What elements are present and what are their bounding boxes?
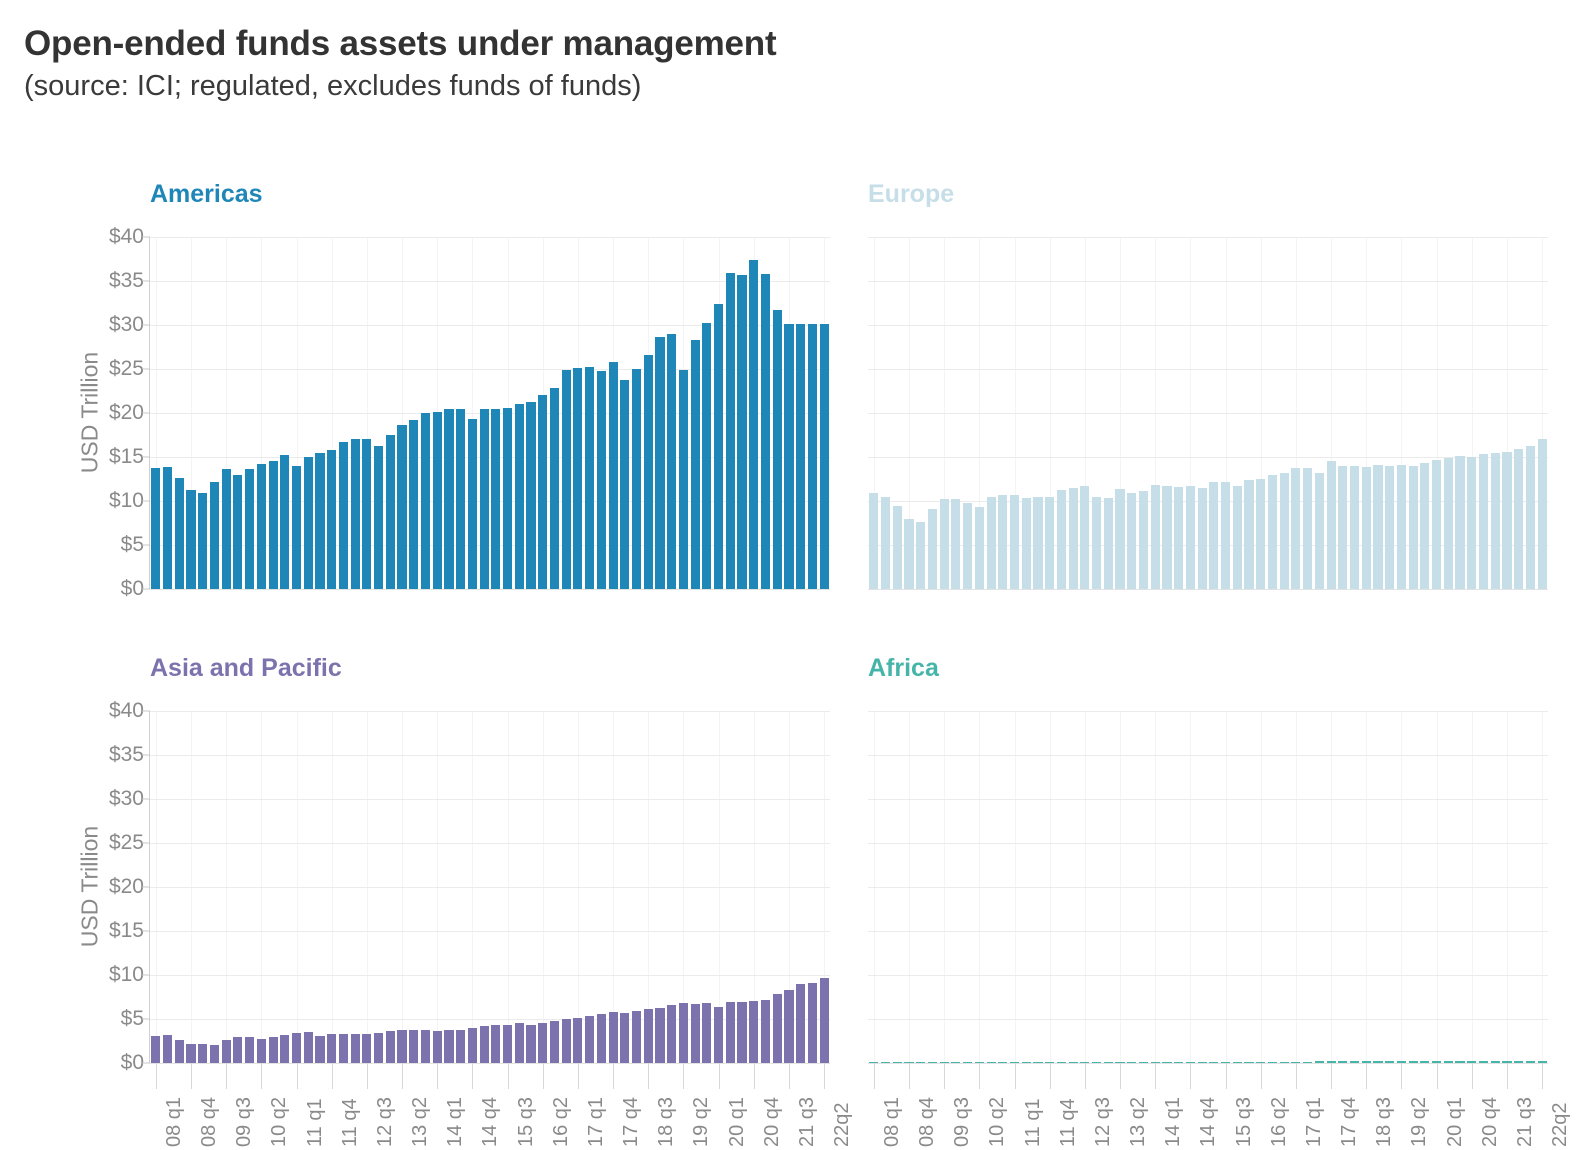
bar[interactable]: [1022, 498, 1031, 589]
x-tick-mark: [437, 1063, 438, 1089]
x-tick-mark: [191, 1063, 192, 1089]
bar[interactable]: [409, 1030, 418, 1063]
x-tick-mark: [1155, 1063, 1156, 1089]
bar[interactable]: [491, 409, 500, 589]
bar[interactable]: [1350, 466, 1359, 589]
bar[interactable]: [761, 1000, 770, 1063]
bar[interactable]: [998, 495, 1007, 589]
bar[interactable]: [987, 497, 996, 589]
bar[interactable]: [1338, 466, 1347, 589]
bar[interactable]: [881, 497, 890, 589]
bar[interactable]: [1092, 497, 1101, 589]
bar[interactable]: [963, 503, 972, 589]
x-tick-label: 13 q2: [409, 1097, 432, 1147]
bar[interactable]: [620, 1013, 629, 1063]
x-tick-label: 15 q3: [515, 1097, 538, 1147]
bar[interactable]: [951, 499, 960, 589]
bar[interactable]: [916, 522, 925, 589]
bar[interactable]: [667, 1005, 676, 1063]
bar[interactable]: [245, 469, 254, 589]
bar[interactable]: [351, 439, 360, 589]
bar[interactable]: [679, 370, 688, 589]
x-tick-label: 14 q4: [479, 1097, 502, 1147]
bar[interactable]: [315, 1036, 324, 1063]
bar[interactable]: [1467, 457, 1476, 589]
x-tick-mark: [472, 1063, 473, 1089]
x-tick-mark: [1261, 1063, 1262, 1089]
bar[interactable]: [151, 1036, 160, 1063]
x-tick-mark: [754, 1063, 755, 1089]
x-tick-mark: [1190, 1063, 1191, 1089]
bar[interactable]: [1080, 486, 1089, 589]
bar[interactable]: [1502, 452, 1511, 589]
bar[interactable]: [233, 475, 242, 589]
bar[interactable]: [198, 1044, 207, 1063]
x-axis-asia_pacific: 08 q108 q409 q310 q211 q111 q412 q313 q2…: [150, 1063, 830, 1150]
bar[interactable]: [893, 506, 902, 589]
x-tick-mark: [613, 1063, 614, 1089]
bar[interactable]: [609, 362, 618, 589]
x-tick-mark: [1050, 1063, 1051, 1089]
y-tick-label: $0: [121, 577, 144, 601]
y-tick-mark: [142, 931, 150, 932]
x-tick-mark: [367, 1063, 368, 1089]
y-axis-label: USD Trillion: [77, 787, 104, 987]
plot-area-europe: [868, 237, 1548, 589]
x-tick-label: 16 q2: [550, 1097, 573, 1147]
y-tick-label: $40: [109, 225, 144, 249]
bar[interactable]: [480, 409, 489, 589]
y-tick-label: $40: [109, 699, 144, 723]
bar[interactable]: [796, 324, 805, 589]
bar[interactable]: [644, 1009, 653, 1063]
y-tick-label: $30: [109, 313, 144, 337]
bar[interactable]: [1280, 473, 1289, 589]
bar[interactable]: [597, 1014, 606, 1063]
x-tick-mark: [226, 1063, 227, 1089]
bar-series-europe: [868, 237, 1548, 589]
x-tick-mark: [578, 1063, 579, 1089]
bar[interactable]: [784, 990, 793, 1063]
facet-title-asia_pacific: Asia and Pacific: [150, 654, 342, 683]
bar[interactable]: [386, 435, 395, 589]
bar[interactable]: [444, 409, 453, 589]
x-tick-label: 11 q1: [304, 1098, 327, 1147]
bar[interactable]: [585, 1016, 594, 1063]
bar[interactable]: [597, 371, 606, 589]
x-tick-label: 17 q4: [1338, 1097, 1361, 1147]
y-gridline: [868, 589, 1548, 590]
y-tick-label: $5: [121, 1007, 144, 1031]
bar[interactable]: [1057, 490, 1066, 589]
x-tick-label: 22q2: [1549, 1103, 1572, 1148]
bar[interactable]: [632, 369, 641, 589]
bar[interactable]: [538, 1023, 547, 1063]
facet-title-europe: Europe: [868, 180, 954, 209]
y-tick-label: $20: [109, 401, 144, 425]
bar[interactable]: [1069, 488, 1078, 589]
bar[interactable]: [409, 420, 418, 589]
plot-area-americas: $0$5$10$15$20$25$30$35$40USD Trillion: [150, 237, 830, 589]
y-tick-label: $10: [109, 489, 144, 513]
bar[interactable]: [679, 1003, 688, 1063]
bar[interactable]: [761, 274, 770, 589]
x-tick-mark: [1542, 1063, 1543, 1089]
bar[interactable]: [1010, 495, 1019, 589]
bar[interactable]: [737, 275, 746, 589]
x-tick-mark: [1437, 1063, 1438, 1089]
bar[interactable]: [362, 439, 371, 589]
plot-area-africa: [868, 711, 1548, 1063]
bar[interactable]: [433, 412, 442, 589]
bar[interactable]: [397, 1030, 406, 1063]
bar[interactable]: [620, 380, 629, 589]
bar[interactable]: [1233, 486, 1242, 589]
x-tick-mark: [719, 1063, 720, 1089]
bar[interactable]: [421, 1030, 430, 1063]
bar[interactable]: [304, 1032, 313, 1063]
bar[interactable]: [726, 1002, 735, 1063]
x-tick-mark: [543, 1063, 544, 1089]
bar[interactable]: [940, 499, 949, 589]
y-tick-mark: [142, 887, 150, 888]
bar[interactable]: [1151, 485, 1160, 589]
y-tick-label: $25: [109, 357, 144, 381]
y-gridline: [150, 589, 830, 590]
bar[interactable]: [456, 1030, 465, 1063]
bar[interactable]: [327, 1034, 336, 1063]
bar[interactable]: [1362, 467, 1371, 589]
bar[interactable]: [808, 324, 817, 589]
x-tick-label: 08 q1: [163, 1097, 186, 1147]
bar[interactable]: [526, 1025, 535, 1063]
bar[interactable]: [1420, 463, 1429, 589]
bar[interactable]: [1139, 491, 1148, 589]
bar[interactable]: [1327, 461, 1336, 589]
x-tick-mark: [1331, 1063, 1332, 1089]
bar[interactable]: [562, 370, 571, 589]
bar[interactable]: [702, 323, 711, 589]
x-tick-label: 12 q3: [1092, 1097, 1115, 1147]
bar[interactable]: [433, 1031, 442, 1063]
x-tick-mark: [1015, 1063, 1016, 1089]
x-tick-label: 17 q4: [620, 1097, 643, 1147]
bar[interactable]: [515, 1023, 524, 1063]
x-tick-label: 21 q3: [1514, 1097, 1537, 1147]
bar[interactable]: [820, 978, 829, 1063]
y-tick-mark: [142, 237, 150, 238]
bar[interactable]: [632, 1011, 641, 1063]
bar[interactable]: [1186, 486, 1195, 589]
bar[interactable]: [573, 1018, 582, 1063]
y-tick-label: $20: [109, 875, 144, 899]
bar[interactable]: [1127, 493, 1136, 589]
bar[interactable]: [315, 453, 324, 589]
bar[interactable]: [820, 324, 829, 589]
x-tick-label: 14 q1: [1162, 1097, 1185, 1147]
x-tick-label: 20 q4: [761, 1097, 784, 1147]
bar[interactable]: [210, 482, 219, 589]
bar[interactable]: [163, 1035, 172, 1063]
x-tick-label: 18 q3: [655, 1097, 678, 1147]
x-tick-label: 13 q2: [1127, 1097, 1150, 1147]
y-tick-mark: [142, 369, 150, 370]
facet-title-africa: Africa: [868, 654, 939, 683]
bar[interactable]: [1385, 466, 1394, 589]
bar[interactable]: [1033, 497, 1042, 589]
x-tick-mark: [944, 1063, 945, 1089]
bar[interactable]: [975, 507, 984, 589]
bar[interactable]: [468, 1028, 477, 1063]
x-tick-mark: [909, 1063, 910, 1089]
bar[interactable]: [737, 1002, 746, 1063]
y-axis-label: USD Trillion: [77, 313, 104, 513]
bar[interactable]: [749, 260, 758, 589]
bar[interactable]: [1409, 466, 1418, 589]
bar[interactable]: [1526, 446, 1535, 589]
bar[interactable]: [1045, 497, 1054, 589]
bar[interactable]: [550, 388, 559, 589]
x-tick-label: 20 q1: [1444, 1097, 1467, 1147]
bar[interactable]: [327, 450, 336, 589]
bar[interactable]: [304, 457, 313, 589]
x-tick-mark: [1085, 1063, 1086, 1089]
x-tick-mark: [1226, 1063, 1227, 1089]
bar[interactable]: [526, 402, 535, 589]
bar[interactable]: [667, 334, 676, 589]
x-tick-mark: [402, 1063, 403, 1089]
x-tick-label: 08 q1: [881, 1097, 904, 1147]
bar[interactable]: [292, 1033, 301, 1063]
x-tick-label: 11 q4: [339, 1098, 362, 1147]
bar[interactable]: [726, 273, 735, 589]
bar[interactable]: [609, 1012, 618, 1063]
bar[interactable]: [386, 1031, 395, 1063]
bar[interactable]: [269, 461, 278, 589]
bar[interactable]: [714, 1007, 723, 1063]
bar[interactable]: [222, 469, 231, 589]
bar[interactable]: [280, 1035, 289, 1063]
x-tick-label: 18 q3: [1373, 1097, 1396, 1147]
bar[interactable]: [538, 395, 547, 589]
bar-series-americas: [150, 237, 830, 589]
bar[interactable]: [210, 1045, 219, 1063]
bar[interactable]: [550, 1021, 559, 1063]
bar[interactable]: [175, 1040, 184, 1063]
y-tick-mark: [142, 413, 150, 414]
x-tick-label: 15 q3: [1233, 1097, 1256, 1147]
y-tick-mark: [142, 843, 150, 844]
bar[interactable]: [351, 1034, 360, 1063]
bar[interactable]: [397, 425, 406, 589]
x-tick-label: 12 q3: [374, 1097, 397, 1147]
x-tick-label: 09 q3: [951, 1097, 974, 1147]
bar[interactable]: [869, 493, 878, 589]
bar[interactable]: [655, 1008, 664, 1063]
x-tick-label: 17 q1: [585, 1097, 608, 1147]
bar[interactable]: [421, 413, 430, 589]
bar[interactable]: [928, 509, 937, 589]
bar[interactable]: [480, 1026, 489, 1063]
bar[interactable]: [1291, 468, 1300, 589]
bar[interactable]: [773, 994, 782, 1063]
chart-subtitle: (source: ICI; regulated, excludes funds …: [24, 69, 1124, 104]
bar[interactable]: [186, 1044, 195, 1063]
bar[interactable]: [585, 367, 594, 589]
x-tick-label: 09 q3: [233, 1097, 256, 1147]
bar[interactable]: [691, 340, 700, 589]
bar[interactable]: [808, 983, 817, 1063]
bar[interactable]: [573, 368, 582, 589]
bar[interactable]: [1303, 468, 1312, 589]
x-tick-mark: [1507, 1063, 1508, 1089]
bar-series-africa: [868, 711, 1548, 1063]
bar[interactable]: [1115, 489, 1124, 589]
bar[interactable]: [1268, 475, 1277, 589]
y-tick-label: $15: [109, 919, 144, 943]
y-tick-label: $25: [109, 831, 144, 855]
x-tick-mark: [683, 1063, 684, 1089]
bar[interactable]: [702, 1003, 711, 1063]
bar[interactable]: [339, 1034, 348, 1063]
bar[interactable]: [292, 466, 301, 589]
bar[interactable]: [339, 442, 348, 589]
bar[interactable]: [491, 1025, 500, 1063]
y-tick-label: $30: [109, 787, 144, 811]
bar[interactable]: [1373, 465, 1382, 589]
bar[interactable]: [1514, 449, 1523, 589]
x-tick-mark: [297, 1063, 298, 1089]
bar[interactable]: [468, 419, 477, 589]
bar[interactable]: [198, 493, 207, 589]
x-tick-mark: [1120, 1063, 1121, 1089]
y-tick-label: $35: [109, 269, 144, 293]
x-tick-label: 11 q4: [1057, 1098, 1080, 1147]
bar[interactable]: [515, 404, 524, 589]
bar[interactable]: [1162, 486, 1171, 589]
y-tick-label: $5: [121, 533, 144, 557]
bar[interactable]: [784, 324, 793, 589]
plot-area-asia_pacific: $0$5$10$15$20$25$30$35$40USD Trillion: [150, 711, 830, 1063]
x-tick-mark: [1366, 1063, 1367, 1089]
y-tick-mark: [142, 281, 150, 282]
bar[interactable]: [1244, 480, 1253, 589]
x-tick-label: 08 q4: [198, 1097, 221, 1147]
y-tick-mark: [142, 325, 150, 326]
bar[interactable]: [280, 455, 289, 589]
bar[interactable]: [1198, 488, 1207, 589]
bar[interactable]: [1221, 482, 1230, 589]
bar[interactable]: [362, 1034, 371, 1063]
x-tick-mark: [979, 1063, 980, 1089]
bar[interactable]: [1538, 439, 1547, 589]
y-tick-mark: [142, 711, 150, 712]
x-tick-mark: [1296, 1063, 1297, 1089]
facet-title-americas: Americas: [150, 180, 263, 209]
bar[interactable]: [644, 355, 653, 589]
bar[interactable]: [1209, 482, 1218, 589]
bar[interactable]: [714, 304, 723, 589]
bar[interactable]: [374, 1033, 383, 1063]
bar[interactable]: [773, 310, 782, 589]
x-tick-label: 10 q2: [268, 1097, 291, 1147]
bar[interactable]: [456, 409, 465, 589]
x-tick-label: 10 q2: [986, 1097, 1009, 1147]
x-tick-mark: [332, 1063, 333, 1089]
x-tick-label: 17 q1: [1303, 1097, 1326, 1147]
bar[interactable]: [222, 1040, 231, 1063]
bar[interactable]: [163, 467, 172, 589]
bar[interactable]: [655, 337, 664, 589]
bar[interactable]: [1397, 465, 1406, 589]
x-tick-label: 14 q1: [444, 1097, 467, 1147]
x-tick-label: 19 q2: [690, 1097, 713, 1147]
bar[interactable]: [503, 1025, 512, 1063]
x-tick-label: 21 q3: [796, 1097, 819, 1147]
bar[interactable]: [233, 1037, 242, 1063]
x-tick-label: 22q2: [831, 1103, 854, 1148]
bar[interactable]: [1479, 454, 1488, 589]
y-tick-mark: [142, 501, 150, 502]
page-title: Open-ended funds assets under management: [24, 24, 1124, 63]
y-tick-label: $0: [121, 1051, 144, 1075]
bar[interactable]: [257, 464, 266, 589]
bar[interactable]: [186, 490, 195, 589]
x-axis-africa: 08 q108 q409 q310 q211 q111 q412 q313 q2…: [868, 1063, 1548, 1150]
x-tick-mark: [1401, 1063, 1402, 1089]
y-tick-mark: [142, 545, 150, 546]
bar[interactable]: [503, 408, 512, 589]
bar[interactable]: [691, 1004, 700, 1063]
x-tick-mark: [874, 1063, 875, 1089]
bar[interactable]: [1491, 453, 1500, 589]
bar[interactable]: [1315, 473, 1324, 589]
bar[interactable]: [904, 519, 913, 589]
bar[interactable]: [796, 984, 805, 1063]
y-tick-mark: [142, 457, 150, 458]
bar[interactable]: [562, 1019, 571, 1063]
y-tick-label: $35: [109, 743, 144, 767]
bar[interactable]: [444, 1030, 453, 1063]
x-tick-mark: [648, 1063, 649, 1089]
y-tick-mark: [142, 755, 150, 756]
x-tick-label: 08 q4: [916, 1097, 939, 1147]
bar[interactable]: [374, 446, 383, 589]
bar[interactable]: [1444, 458, 1453, 589]
y-tick-label: $10: [109, 963, 144, 987]
y-tick-label: $15: [109, 445, 144, 469]
x-tick-label: 20 q1: [726, 1097, 749, 1147]
bar[interactable]: [1256, 479, 1265, 589]
bar[interactable]: [1432, 460, 1441, 589]
bar[interactable]: [1455, 456, 1464, 589]
x-tick-label: 11 q1: [1022, 1098, 1045, 1147]
bar[interactable]: [1174, 487, 1183, 589]
bar[interactable]: [245, 1037, 254, 1063]
bar[interactable]: [749, 1001, 758, 1063]
bar-series-asia_pacific: [150, 711, 830, 1063]
x-tick-mark: [261, 1063, 262, 1089]
bar[interactable]: [175, 478, 184, 589]
bar[interactable]: [257, 1039, 266, 1063]
bar[interactable]: [1104, 498, 1113, 589]
bar[interactable]: [151, 468, 160, 589]
x-tick-label: 19 q2: [1408, 1097, 1431, 1147]
y-tick-mark: [142, 799, 150, 800]
x-tick-label: 20 q4: [1479, 1097, 1502, 1147]
y-tick-mark: [142, 1019, 150, 1020]
bar[interactable]: [269, 1037, 278, 1063]
